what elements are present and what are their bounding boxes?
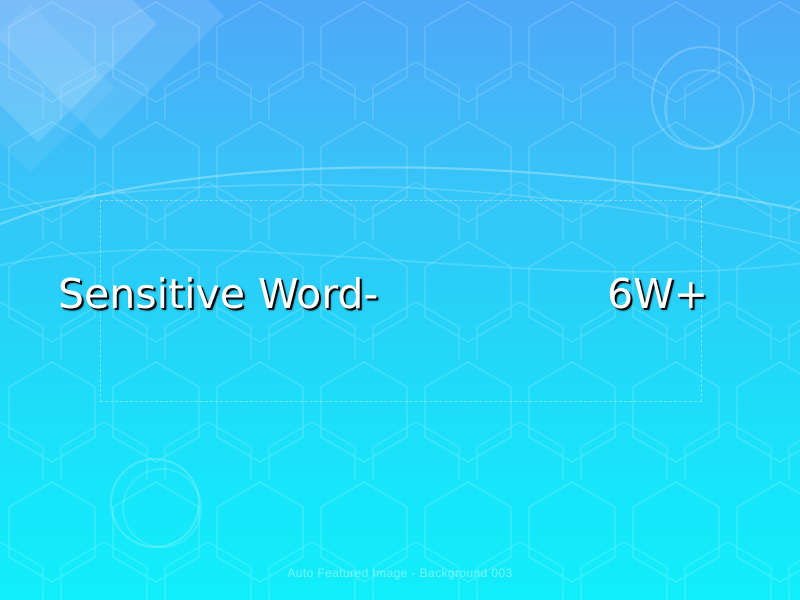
- decor-diamond-b-icon: [0, 0, 224, 140]
- slide-canvas: Sensitive Word- 6W+ Auto Featured Image …: [0, 0, 800, 600]
- decor-diamond-a-icon: [0, 0, 157, 143]
- decor-ring-bottom-left-outer-icon: [110, 458, 200, 548]
- decor-ring-bottom-left-inner-icon: [122, 468, 202, 548]
- page-title: Sensitive Word-: [58, 272, 378, 316]
- decor-diamond-c-icon: [0, 3, 115, 173]
- footer-caption: Auto Featured Image - Background 003: [0, 566, 800, 580]
- decor-ring-top-right-outer-icon: [651, 46, 755, 150]
- decor-ring-top-right-inner-icon: [664, 69, 744, 149]
- title-badge: 6W+: [607, 272, 708, 316]
- slide-title-row: Sensitive Word- 6W+: [58, 272, 708, 316]
